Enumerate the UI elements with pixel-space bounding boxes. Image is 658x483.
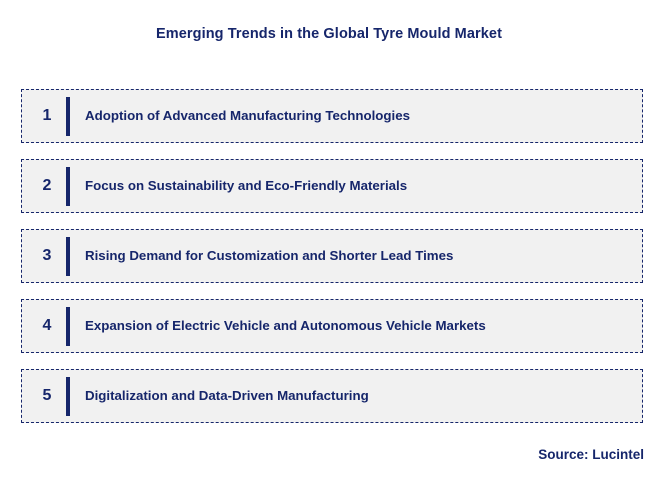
trend-number: 1 <box>22 108 66 124</box>
trend-label: Digitalization and Data-Driven Manufactu… <box>70 388 642 404</box>
list-item[interactable]: 2 Focus on Sustainability and Eco-Friend… <box>21 159 643 213</box>
page-title: Emerging Trends in the Global Tyre Mould… <box>0 26 658 42</box>
trend-label: Focus on Sustainability and Eco-Friendly… <box>70 178 642 194</box>
trend-label: Rising Demand for Customization and Shor… <box>70 248 642 264</box>
trend-number: 3 <box>22 248 66 264</box>
list-item[interactable]: 3 Rising Demand for Customization and Sh… <box>21 229 643 283</box>
trend-label: Expansion of Electric Vehicle and Autono… <box>70 318 642 334</box>
trend-label: Adoption of Advanced Manufacturing Techn… <box>70 108 642 124</box>
source-attribution: Source: Lucintel <box>538 447 644 462</box>
trend-number: 4 <box>22 318 66 334</box>
list-item[interactable]: 4 Expansion of Electric Vehicle and Auto… <box>21 299 643 353</box>
trend-number: 2 <box>22 178 66 194</box>
list-item[interactable]: 5 Digitalization and Data-Driven Manufac… <box>21 369 643 423</box>
infographic-page: Emerging Trends in the Global Tyre Mould… <box>0 0 658 483</box>
list-item[interactable]: 1 Adoption of Advanced Manufacturing Tec… <box>21 89 643 143</box>
trend-list: 1 Adoption of Advanced Manufacturing Tec… <box>21 89 643 423</box>
trend-number: 5 <box>22 388 66 404</box>
